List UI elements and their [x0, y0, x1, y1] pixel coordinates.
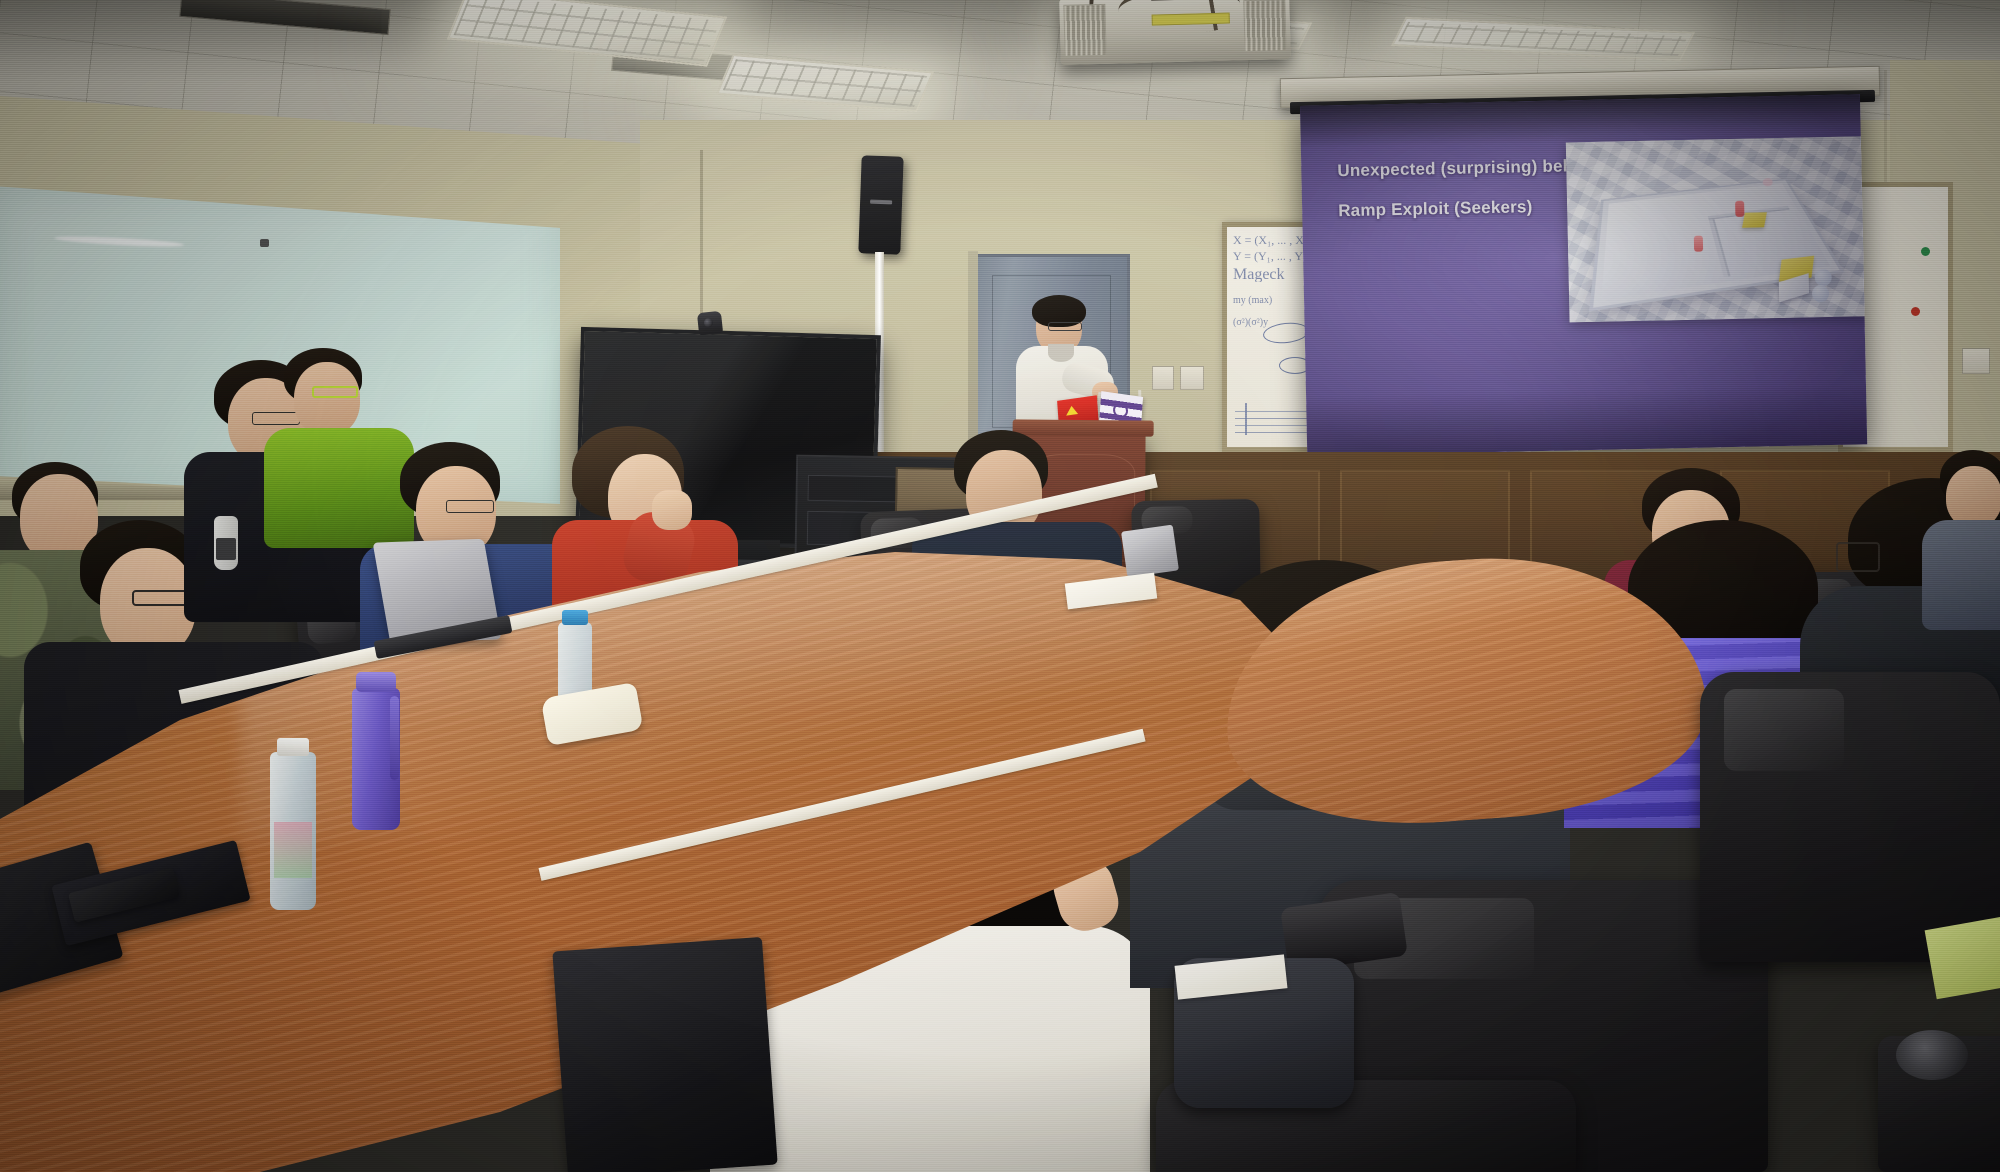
glasses-icon: [132, 590, 192, 606]
webcam-icon: [697, 311, 723, 335]
equation-line-4: my (max): [1233, 293, 1309, 308]
bottle-cap: [277, 738, 309, 756]
wall-switch-plate-2[interactable]: [1180, 366, 1204, 390]
glasses-icon: [446, 500, 494, 513]
water-bottle-clear[interactable]: [270, 752, 316, 910]
whiteboard-magnet: [260, 239, 269, 247]
screen-bottom-shadow: [1306, 384, 1867, 456]
projector-warning-label: [1152, 13, 1230, 26]
bottle-cap: [562, 610, 588, 625]
slide-game-render: [1566, 136, 1867, 322]
glasses-icon: [1048, 322, 1082, 331]
projection-screen: Unexpected (surprising) behavior Ramp Ex…: [1300, 94, 1867, 456]
chair[interactable]: [1700, 672, 2000, 962]
glasses-icon: [1836, 542, 1880, 572]
water-bottle-small[interactable]: [214, 516, 238, 570]
equation-line-3: Mageck: [1233, 267, 1309, 282]
sticky-note[interactable]: [1925, 915, 2000, 1000]
person-head: [1946, 466, 2000, 528]
game-agent-seeker-2: [1694, 236, 1703, 252]
whiteboard-smudge: [54, 235, 184, 249]
lecture-room-photo: X = (X₁, ... , Xₙ) Y = (Y₁, ... , Yₙ) Ma…: [0, 0, 2000, 1172]
flag-star-icon: [1066, 405, 1079, 416]
person-head: [294, 362, 360, 436]
water-bottle-purple[interactable]: [352, 688, 400, 830]
chair-caster-wheel: [1896, 1030, 1968, 1080]
projector-vent-left: [1063, 4, 1106, 57]
wall-switch-plate-1[interactable]: [1152, 366, 1174, 390]
attendee-far-right: [1936, 450, 2000, 600]
person-hand: [652, 490, 692, 530]
whiteboard-diagram-lines: [1235, 407, 1315, 433]
red-marker-dot: [1911, 307, 1920, 316]
glasses-icon: [312, 386, 358, 398]
game-yellow-box-1: [1742, 212, 1767, 228]
equation-line-2: Y = (Y₁, ... , Yₙ): [1233, 249, 1309, 264]
bottle-label: [216, 538, 236, 560]
chair-highlight: [1724, 689, 1844, 770]
game-inner-wall-vertical: [1708, 216, 1729, 277]
projector-vent-right: [1243, 0, 1286, 52]
equation-line-1: X = (X₁, ... , Xₙ): [1233, 233, 1309, 248]
laptop-dark[interactable]: [552, 937, 777, 1172]
ceiling-projector: [1059, 0, 1291, 65]
door-jamb: [968, 251, 978, 452]
slide-subtitle-text: Ramp Exploit (Seekers): [1338, 197, 1533, 221]
bottle-strap: [390, 696, 399, 780]
wall-outlet-plate[interactable]: [1962, 348, 1990, 374]
bottle-cap: [356, 672, 396, 692]
game-agent-seeker-1: [1735, 201, 1744, 217]
university-seal-icon: [1113, 402, 1129, 419]
bottle-label: [274, 822, 312, 878]
wall-speaker: [858, 155, 903, 254]
green-marker-dot: [1921, 247, 1930, 256]
presenter-collar: [1048, 344, 1074, 362]
speaker-logo: [870, 200, 892, 205]
tablet-device[interactable]: [1121, 525, 1179, 578]
person-torso: [1922, 520, 2000, 630]
